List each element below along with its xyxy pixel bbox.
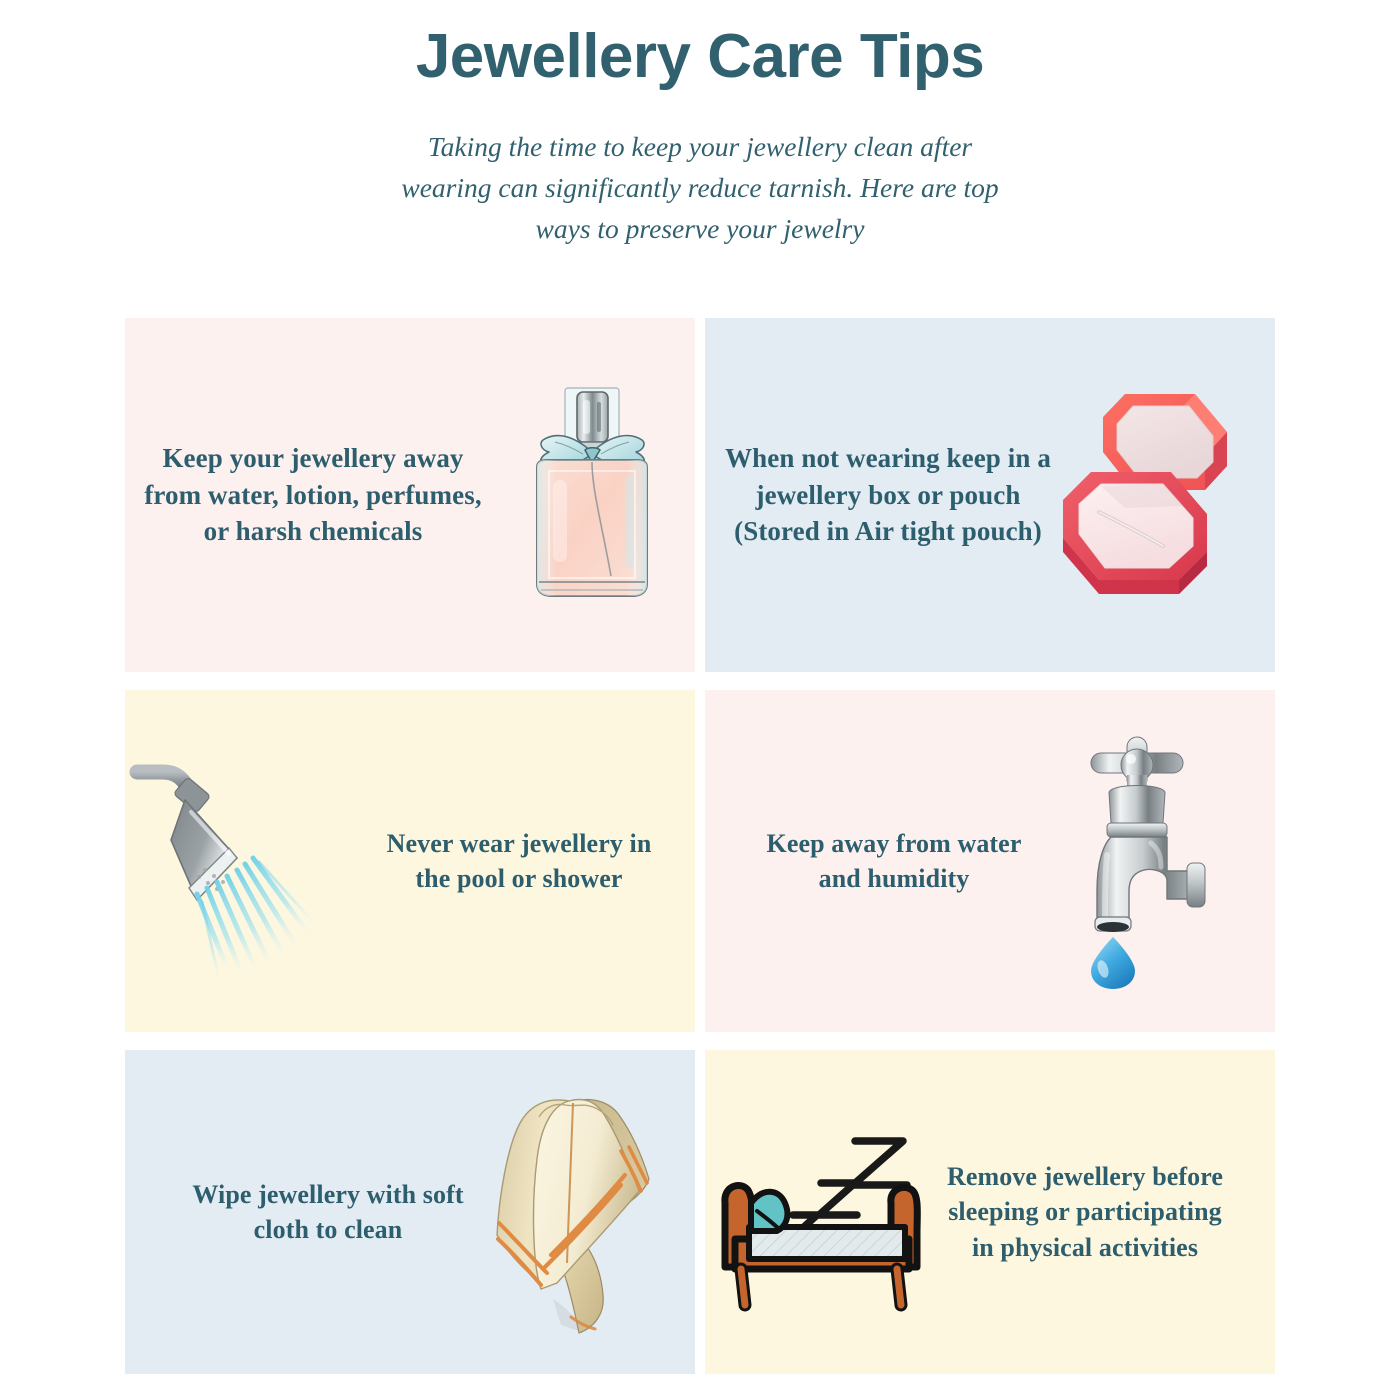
tip-card-text: Keep your jewellery away from water, lot… — [125, 440, 493, 550]
tip-card-remove-before-sleeping: Remove jewellery before sleeping or part… — [705, 1050, 1275, 1374]
tip-card-text: Keep away from water and humidity — [705, 826, 1039, 897]
tips-grid: Keep your jewellery away from water, lot… — [125, 318, 1275, 1374]
shower-head-icon — [125, 736, 369, 986]
bed-sleeping-icon — [705, 1107, 935, 1317]
tip-card-pool-shower: Never wear jewellery in the pool or show… — [125, 690, 695, 1032]
tip-card-text: Never wear jewellery in the pool or show… — [369, 826, 695, 897]
tip-card-text: Wipe jewellery with soft cloth to clean — [125, 1177, 483, 1248]
perfume-bottle-icon — [493, 370, 695, 620]
page-subtitle: Taking the time to keep your jewellery c… — [380, 91, 1020, 249]
header: Jewellery Care Tips Taking the time to k… — [0, 0, 1400, 250]
tip-card-water-humidity: Keep away from water and humidity — [705, 690, 1275, 1032]
tip-card-water-lotion-perfume: Keep your jewellery away from water, lot… — [125, 318, 695, 672]
tip-card-soft-cloth: Wipe jewellery with soft cloth to clean — [125, 1050, 695, 1374]
tip-card-jewellery-box: When not wearing keep in a jewellery box… — [705, 318, 1275, 672]
ring-box-icon — [1053, 380, 1275, 610]
infographic-page: Jewellery Care Tips Taking the time to k… — [0, 0, 1400, 1400]
towel-icon — [483, 1087, 695, 1337]
page-title: Jewellery Care Tips — [0, 0, 1400, 91]
tip-card-text: Remove jewellery before sleeping or part… — [935, 1159, 1275, 1265]
faucet-icon — [1039, 731, 1275, 991]
tip-card-text: When not wearing keep in a jewellery box… — [705, 440, 1053, 550]
